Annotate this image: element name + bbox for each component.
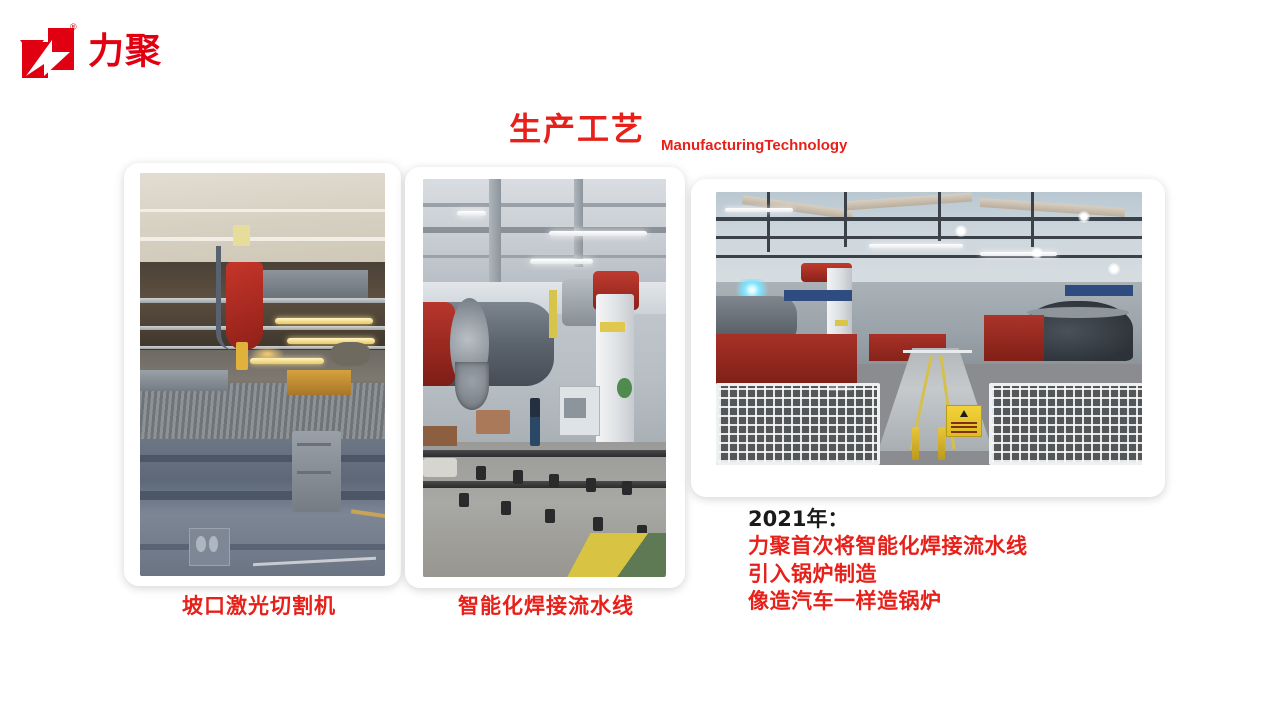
- photo-card-laser-cutter: [124, 163, 401, 586]
- note-line-1: 力聚首次将智能化焊接流水线: [748, 533, 1028, 560]
- note-year: 2021年：: [748, 506, 1028, 533]
- photo-intelligent-welding-line: [716, 192, 1142, 465]
- photo-card-welding-line: [405, 167, 685, 588]
- photo-welding-production-line: [423, 179, 666, 577]
- brand-name: 力聚: [88, 34, 162, 70]
- photo-laser-cutting-machine: [140, 173, 385, 576]
- registered-trademark-icon: ®: [70, 23, 77, 32]
- caption-laser-cutter: 坡口激光切割机: [182, 596, 336, 617]
- page-title-cn: 生产工艺: [509, 113, 645, 145]
- caption-welding-line: 智能化焊接流水线: [458, 596, 634, 617]
- note-block: 2021年： 力聚首次将智能化焊接流水线 引入锅炉制造 像造汽车一样造锅炉: [748, 506, 1028, 615]
- page-title-en: ManufacturingTechnology: [661, 138, 847, 153]
- liju-lightning-logo-icon: ®: [18, 26, 80, 78]
- note-line-3: 像造汽车一样造锅炉: [748, 588, 1028, 615]
- page-title: 生产工艺 ManufacturingTechnology: [509, 113, 847, 145]
- warning-sign-icon: [946, 405, 982, 437]
- photo-card-welding-line-wide: 智能化焊接流水线: [691, 179, 1165, 497]
- note-line-2: 引入锅炉制造: [748, 561, 1028, 588]
- brand-logo: ® 力聚: [18, 22, 218, 82]
